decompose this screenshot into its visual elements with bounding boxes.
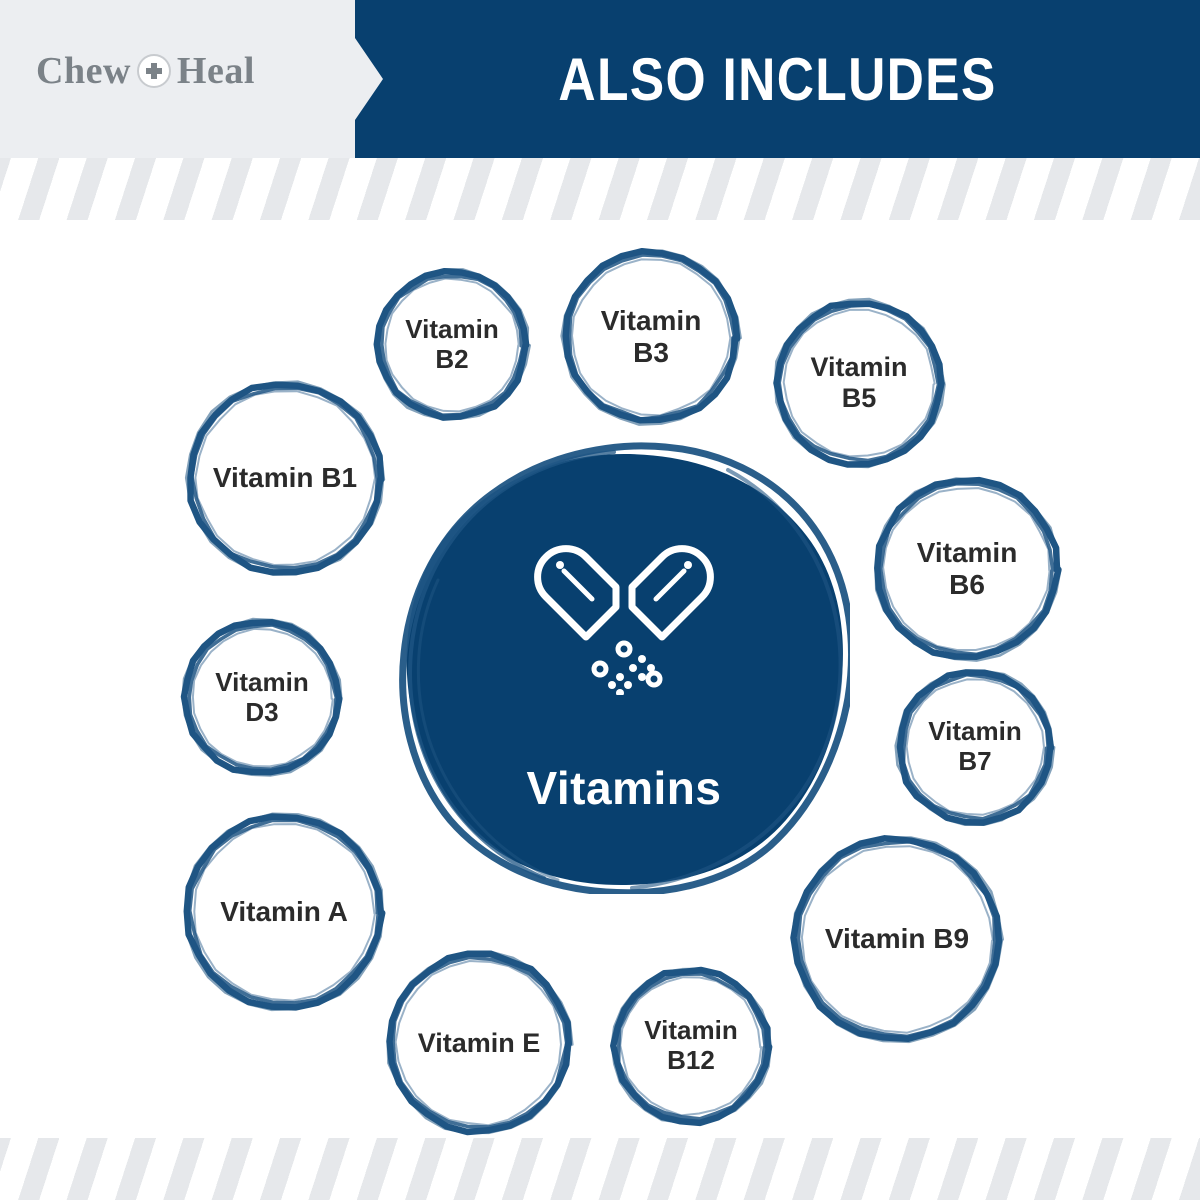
vitamin-node-b12[interactable]: VitaminB12 xyxy=(605,960,777,1132)
vitamin-node-label: VitaminB3 xyxy=(595,305,708,369)
logo-text-left: Chew xyxy=(36,52,131,90)
vitamin-node-b7[interactable]: VitaminB7 xyxy=(890,662,1060,832)
vitamin-node-label: VitaminB2 xyxy=(399,315,504,374)
vitamin-node-label: Vitamin A xyxy=(214,896,354,928)
vitamin-node-b6[interactable]: VitaminB6 xyxy=(868,470,1066,668)
vitamin-node-label: VitaminB12 xyxy=(638,1016,743,1075)
logo-text-right: Heal xyxy=(177,52,255,90)
vitamin-node-e[interactable]: Vitamin E xyxy=(380,944,578,1142)
decorative-stripes-bottom xyxy=(0,1138,1200,1200)
vitamin-node-label: VitaminB5 xyxy=(804,352,913,414)
vitamin-node-label: Vitamin B9 xyxy=(819,923,975,955)
vitamin-node-label: Vitamin B1 xyxy=(207,462,363,494)
vitamin-node-b1[interactable]: Vitamin B1 xyxy=(180,373,390,583)
brand-logo[interactable]: Chew Heal xyxy=(36,52,255,90)
vitamin-node-b3[interactable]: VitaminB3 xyxy=(556,242,746,432)
vitamin-node-b2[interactable]: VitaminB2 xyxy=(369,262,535,428)
page-header: Chew Heal ALSO INCLUDES xyxy=(0,0,1200,158)
vitamin-node-label: VitaminB7 xyxy=(922,717,1027,776)
vitamin-node-a[interactable]: Vitamin A xyxy=(178,806,390,1018)
vitamin-diagram: Vitamins VitaminB2VitaminB3VitaminB5Vita… xyxy=(0,158,1200,1138)
page-title: ALSO INCLUDES xyxy=(414,0,1141,158)
vitamin-node-label: VitaminB6 xyxy=(911,537,1024,601)
center-node-label: Vitamins xyxy=(527,761,722,815)
vitamin-node-d3[interactable]: VitaminD3 xyxy=(176,612,348,784)
vitamin-node-label: Vitamin E xyxy=(412,1028,547,1059)
open-capsule-with-granules-icon xyxy=(524,535,724,695)
plus-in-circle-icon xyxy=(137,54,171,88)
center-node-vitamins[interactable]: Vitamins xyxy=(398,442,850,894)
vitamin-node-label: VitaminD3 xyxy=(209,668,314,727)
